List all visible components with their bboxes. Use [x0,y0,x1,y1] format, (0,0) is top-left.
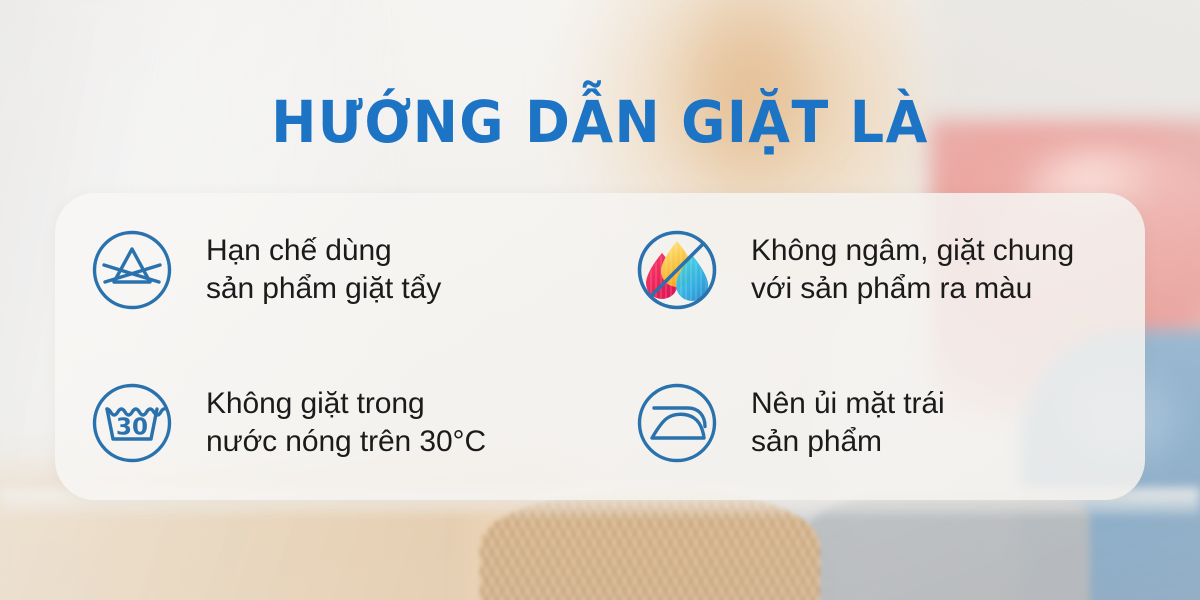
care-instructions-grid: Hạn chế dùng sản phẩm giặt tẩy [55,193,1145,500]
wash-30-icon: 30 [80,371,184,475]
no-bleach-icon [80,218,184,322]
svg-text:30: 30 [116,415,148,441]
care-item-no-color-mix: Không ngâm, giặt chung với sản phẩm ra m… [600,193,1145,347]
care-item-iron: Nên ủi mặt trái sản phẩm [600,347,1145,501]
care-item-label: Không giặt trong nước nóng trên 30°C [206,385,486,461]
care-item-label: Không ngâm, giặt chung với sản phẩm ra m… [751,232,1074,308]
care-item-label: Nên ủi mặt trái sản phẩm [751,385,945,461]
care-item-no-bleach: Hạn chế dùng sản phẩm giặt tẩy [55,193,600,347]
care-instructions-panel: Hạn chế dùng sản phẩm giặt tẩy [55,193,1145,500]
page-title: HƯỚNG DẪN GIẶT LÀ [42,88,1158,156]
care-item-wash-30: 30 Không giặt trong nước nóng trên 30°C [55,347,600,501]
care-item-label: Hạn chế dùng sản phẩm giặt tẩy [206,232,441,308]
iron-inside-out-icon [625,371,729,475]
no-color-mix-icon [625,218,729,322]
